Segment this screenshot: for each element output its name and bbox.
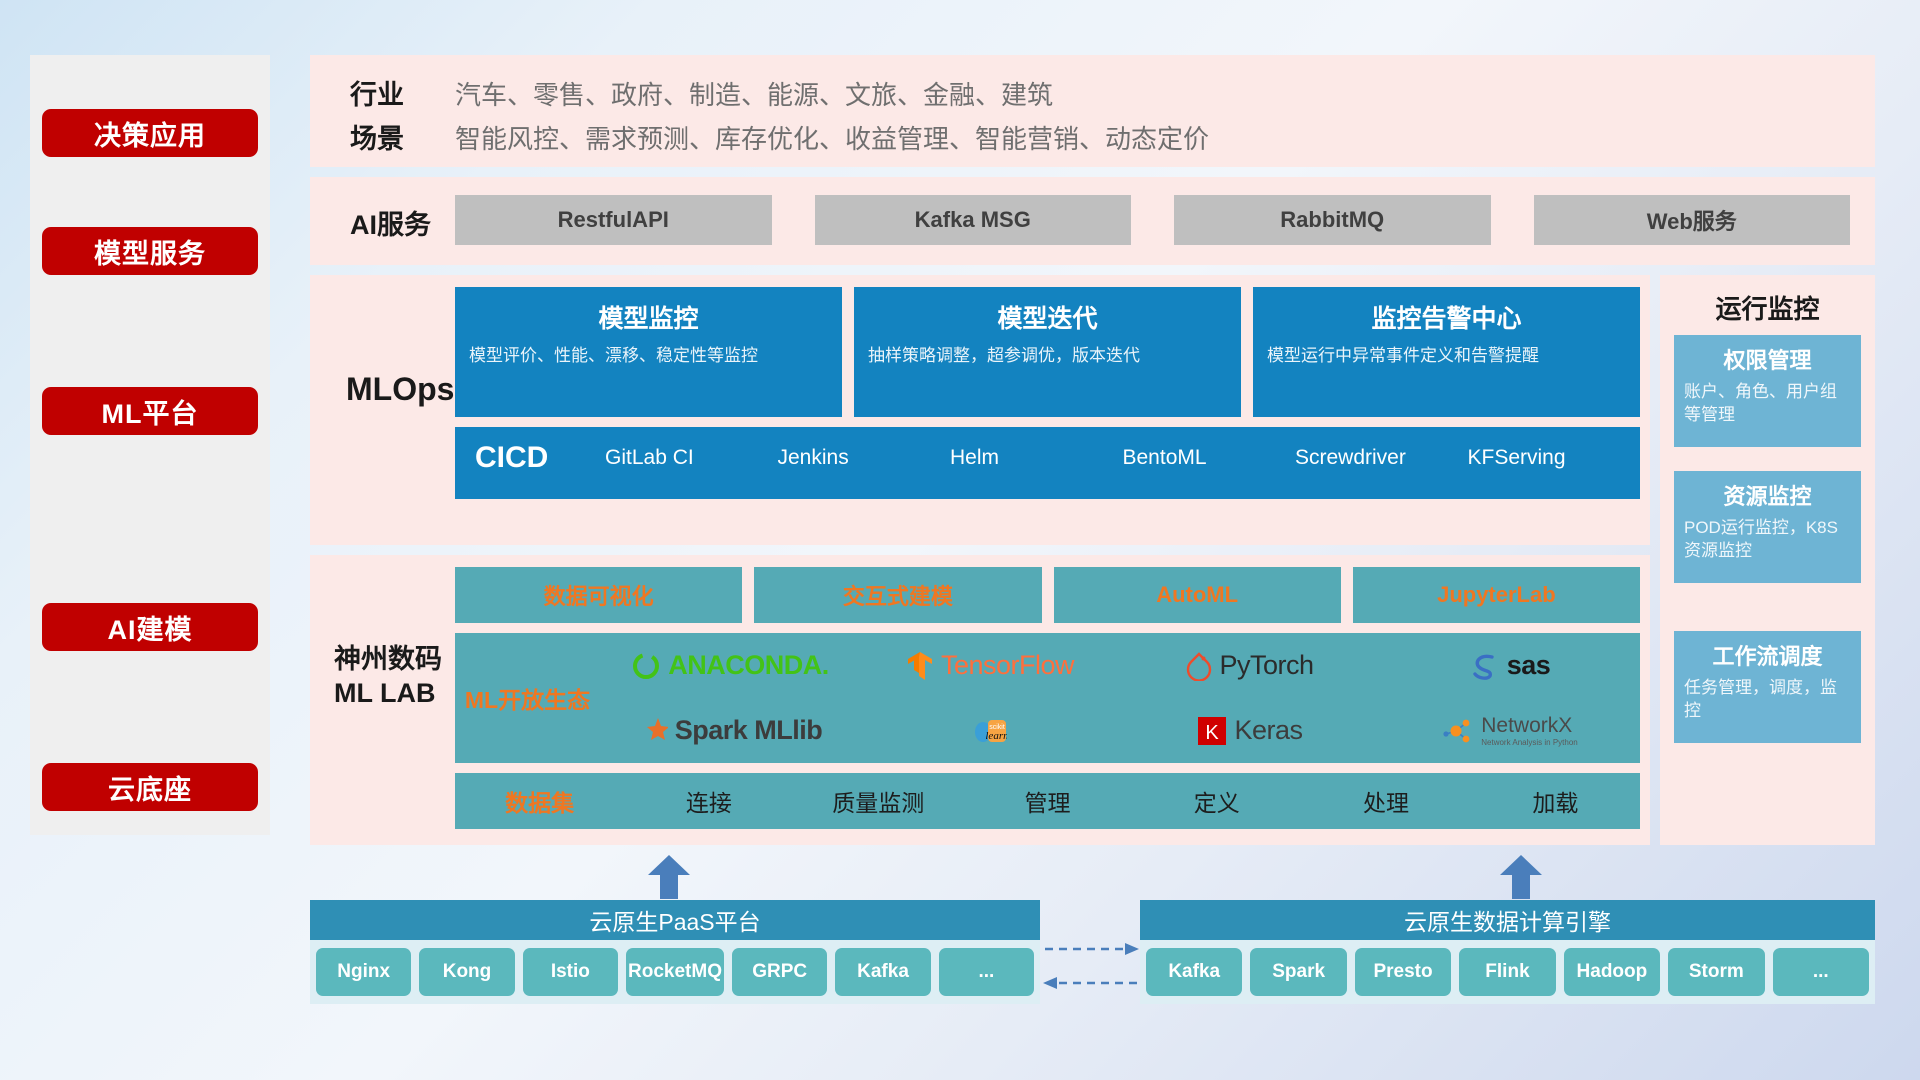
cicd-bar: CICD GitLab CI Jenkins Helm BentoML Scre… [455, 427, 1640, 499]
scikit-learn-icon: scikit learn [973, 716, 1007, 746]
chip-spark[interactable]: Spark [1250, 948, 1346, 996]
mlops-card-list: 模型监控 模型评价、性能、漂移、稳定性等监控 模型迭代 抽样策略调整，超参调优，… [455, 287, 1640, 417]
chip-hadoop[interactable]: Hadoop [1564, 948, 1660, 996]
keras-icon: K [1197, 716, 1227, 746]
card-desc: 模型运行中异常事件定义和告警提醒 [1267, 345, 1539, 368]
networkx-logo: NetworkX Network Analysis in Python [1442, 714, 1578, 747]
chip-grpc[interactable]: GRPC [732, 948, 827, 996]
diagram-canvas: 决策应用 模型服务 ML平台 AI建模 云底座 行业 汽车、零售、政府、制造、能… [0, 0, 1920, 1080]
service-rabbitmq[interactable]: RabbitMQ [1174, 195, 1491, 245]
dataset-label: 数据集 [455, 784, 624, 818]
pytorch-logo: PyTorch [1186, 650, 1313, 681]
cicd-item-gitlab-ci[interactable]: GitLab CI [605, 427, 778, 470]
service-restfulapi[interactable]: RestfulAPI [455, 195, 772, 245]
networkx-tagline: Network Analysis in Python [1481, 738, 1578, 747]
tool-jupyterlab[interactable]: JupyterLab [1353, 567, 1640, 623]
anaconda-logo: ANACONDA. [631, 650, 829, 681]
scikit-learn-logo: scikit learn [973, 716, 1007, 746]
anaconda-wordmark: ANACONDA. [668, 650, 829, 681]
card-title: 模型监控 [598, 299, 698, 335]
modeling-tool-list: 数据可视化 交互式建模 AutoML JupyterLab [455, 567, 1640, 623]
chip-nginx[interactable]: Nginx [316, 948, 411, 996]
ai-service-list: RestfulAPI Kafka MSG RabbitMQ Web服务 [455, 195, 1850, 245]
mlops-panel: MLOps 模型监控 模型评价、性能、漂移、稳定性等监控 模型迭代 抽样策略调整… [310, 275, 1650, 545]
ml-ecosystem-band: ML开放生态 ANACONDA. TensorFlow [455, 633, 1640, 763]
card-desc: 任务管理，调度，监控 [1684, 677, 1851, 723]
cicd-item-jenkins[interactable]: Jenkins [778, 427, 951, 470]
networkx-wordmark: NetworkX [1481, 714, 1578, 738]
tool-data-visualization[interactable]: 数据可视化 [455, 567, 742, 623]
sidebar-item-decision-app[interactable]: 决策应用 [42, 109, 258, 157]
spark-star-icon [638, 716, 668, 746]
card-title: 监控告警中心 [1371, 299, 1521, 335]
sidebar-item-ai-modeling[interactable]: AI建模 [42, 603, 258, 651]
cloud-compute-group: 云原生数据计算引擎 Kafka Spark Presto Flink Hadoo… [1140, 900, 1875, 1004]
bidirectional-dashed-connector-icon [1043, 935, 1139, 995]
dataset-define[interactable]: 定义 [1132, 784, 1301, 818]
up-arrow-paas-icon [648, 855, 690, 899]
cicd-item-list: GitLab CI Jenkins Helm BentoML Screwdriv… [605, 427, 1640, 470]
cicd-item-bentoml[interactable]: BentoML [1123, 427, 1296, 470]
card-desc: 抽样策略调整，超参调优，版本迭代 [868, 345, 1140, 368]
scenario-label: 场景 [350, 117, 404, 156]
card-title: 权限管理 [1684, 343, 1851, 375]
dataset-manage[interactable]: 管理 [963, 784, 1132, 818]
industry-value: 汽车、零售、政府、制造、能源、文旅、金融、建筑 [455, 75, 1053, 112]
monitoring-title: 运行监控 [1660, 289, 1875, 326]
tool-automl[interactable]: AutoML [1054, 567, 1341, 623]
service-kafka-msg[interactable]: Kafka MSG [815, 195, 1132, 245]
monitoring-card-resource[interactable]: 资源监控 POD运行监控，K8S资源监控 [1674, 471, 1861, 583]
cloud-paas-chip-list: Nginx Kong Istio RocketMQ GRPC Kafka ... [310, 940, 1040, 1004]
service-web[interactable]: Web服务 [1534, 195, 1851, 245]
card-title: 模型迭代 [997, 299, 1097, 335]
networkx-icon [1442, 716, 1474, 746]
ml-ecosystem-label: ML开放生态 [455, 681, 600, 715]
ml-ecosystem-logo-grid: ANACONDA. TensorFlow PyTorch [600, 633, 1640, 763]
pytorch-wordmark: PyTorch [1219, 650, 1313, 681]
chip-kafka[interactable]: Kafka [835, 948, 930, 996]
chip-storm[interactable]: Storm [1668, 948, 1764, 996]
chip-more-compute[interactable]: ... [1773, 948, 1869, 996]
dataset-process[interactable]: 处理 [1301, 784, 1470, 818]
tensorflow-wordmark: TensorFlow [941, 650, 1074, 681]
cloud-compute-title: 云原生数据计算引擎 [1140, 900, 1875, 940]
cicd-item-kfserving[interactable]: KFServing [1468, 427, 1641, 470]
mlops-label: MLOps [346, 371, 454, 408]
monitoring-card-workflow[interactable]: 工作流调度 任务管理，调度，监控 [1674, 631, 1861, 743]
chip-istio[interactable]: Istio [523, 948, 618, 996]
application-layer-panel: 行业 汽车、零售、政府、制造、能源、文旅、金融、建筑 场景 智能风控、需求预测、… [310, 55, 1875, 167]
monitoring-panel: 运行监控 权限管理 账户、角色、用户组等管理 资源监控 POD运行监控，K8S资… [1660, 275, 1875, 845]
chip-presto[interactable]: Presto [1355, 948, 1451, 996]
sidebar-item-ml-platform[interactable]: ML平台 [42, 387, 258, 435]
mlops-card-alert-center[interactable]: 监控告警中心 模型运行中异常事件定义和告警提醒 [1253, 287, 1640, 417]
anaconda-icon [631, 651, 661, 681]
chip-more[interactable]: ... [939, 948, 1034, 996]
cloud-compute-chip-list: Kafka Spark Presto Flink Hadoop Storm ..… [1140, 940, 1875, 1004]
dataset-connect[interactable]: 连接 [624, 784, 793, 818]
ai-service-label: AI服务 [350, 203, 431, 242]
tool-interactive-modeling[interactable]: 交互式建模 [754, 567, 1041, 623]
ml-lab-label: 神州数码 ML LAB [334, 643, 454, 711]
pytorch-icon [1186, 651, 1212, 681]
chip-rocketmq[interactable]: RocketMQ [626, 948, 724, 996]
ml-lab-label-line1: 神州数码 [334, 643, 454, 677]
card-desc: 账户、角色、用户组等管理 [1684, 381, 1851, 427]
dataset-load[interactable]: 加载 [1471, 784, 1640, 818]
keras-logo: K Keras [1197, 715, 1302, 746]
sas-logo: sas [1470, 650, 1551, 681]
chip-kong[interactable]: Kong [419, 948, 514, 996]
card-title: 工作流调度 [1684, 639, 1851, 671]
tensorflow-icon [906, 650, 934, 682]
cicd-label: CICD [455, 427, 605, 475]
ai-modeling-panel: 神州数码 ML LAB 数据可视化 交互式建模 AutoML JupyterLa… [310, 555, 1650, 845]
layer-rail: 决策应用 模型服务 ML平台 AI建模 云底座 [30, 55, 270, 835]
spark-mllib-wordmark: Spark MLlib [675, 715, 823, 746]
card-desc: POD运行监控，K8S资源监控 [1684, 517, 1851, 563]
chip-flink[interactable]: Flink [1459, 948, 1555, 996]
card-title: 资源监控 [1684, 479, 1851, 511]
cicd-item-screwdriver[interactable]: Screwdriver [1295, 427, 1468, 470]
mlops-card-model-monitor[interactable]: 模型监控 模型评价、性能、漂移、稳定性等监控 [455, 287, 842, 417]
cloud-paas-group: 云原生PaaS平台 Nginx Kong Istio RocketMQ GRPC… [310, 900, 1040, 1004]
up-arrow-compute-icon [1500, 855, 1542, 899]
dataset-quality-monitor[interactable]: 质量监测 [794, 784, 963, 818]
chip-kafka-compute[interactable]: Kafka [1146, 948, 1242, 996]
ai-service-panel: AI服务 RestfulAPI Kafka MSG RabbitMQ Web服务 [310, 177, 1875, 265]
ml-lab-label-line2: ML LAB [334, 677, 454, 711]
keras-wordmark: Keras [1234, 715, 1302, 746]
monitoring-card-permission[interactable]: 权限管理 账户、角色、用户组等管理 [1674, 335, 1861, 447]
sidebar-item-cloud-base[interactable]: 云底座 [42, 763, 258, 811]
mlops-card-model-iteration[interactable]: 模型迭代 抽样策略调整，超参调优，版本迭代 [854, 287, 1241, 417]
industry-label: 行业 [350, 73, 404, 112]
cloud-paas-title: 云原生PaaS平台 [310, 900, 1040, 940]
cicd-item-helm[interactable]: Helm [950, 427, 1123, 470]
svg-text:learn: learn [985, 730, 1007, 742]
tensorflow-logo: TensorFlow [906, 650, 1074, 682]
sas-icon [1470, 652, 1500, 680]
scenario-value: 智能风控、需求预测、库存优化、收益管理、智能营销、动态定价 [455, 119, 1209, 156]
dataset-row: 数据集 连接 质量监测 管理 定义 处理 加载 [455, 773, 1640, 829]
spark-mllib-logo: Spark MLlib [638, 715, 823, 746]
card-desc: 模型评价、性能、漂移、稳定性等监控 [469, 345, 758, 368]
sas-wordmark: sas [1507, 650, 1551, 681]
sidebar-item-model-service[interactable]: 模型服务 [42, 227, 258, 275]
svg-text:K: K [1206, 722, 1220, 744]
